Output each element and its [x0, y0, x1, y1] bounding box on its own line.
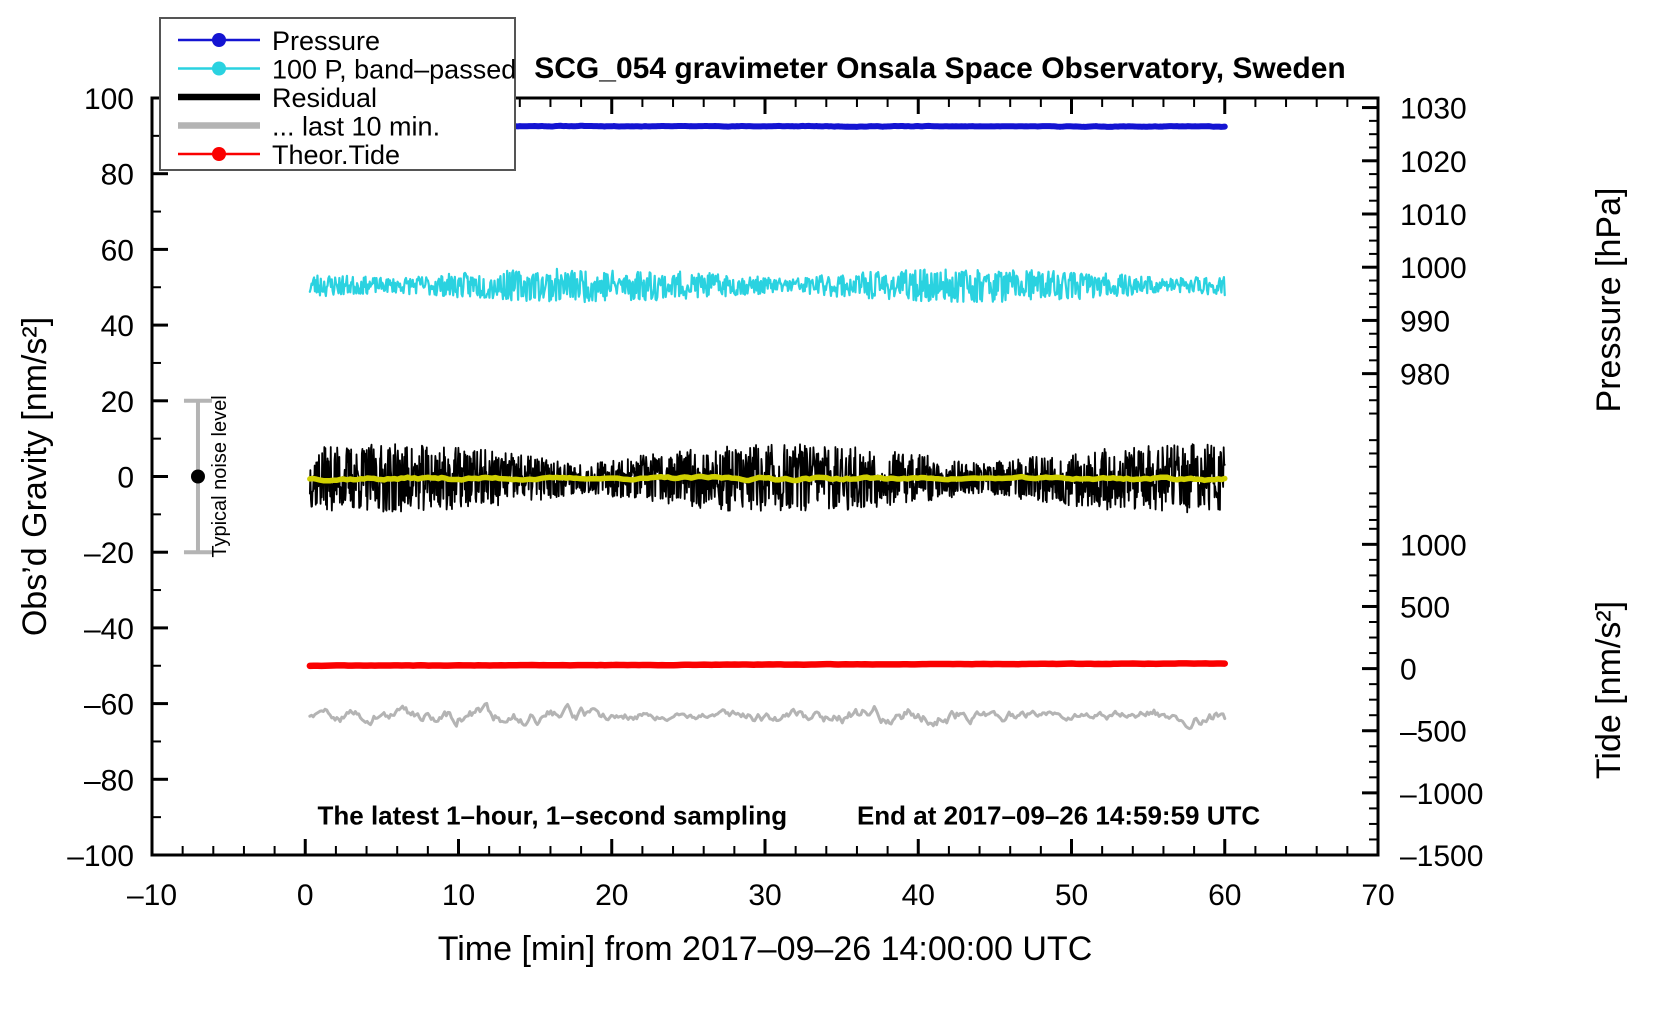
- tide-tick-label: –1500: [1400, 840, 1483, 873]
- y-tick-label: 20: [101, 386, 134, 419]
- y-tick-label: –40: [84, 613, 134, 646]
- legend-swatch-marker: [212, 62, 226, 76]
- legend-item-label: Theor.Tide: [272, 140, 400, 170]
- y-axis-title-tide: Tide [nm/s²]: [1590, 601, 1628, 779]
- x-tick-label: 70: [1361, 879, 1394, 912]
- typical-noise-level-annotation: Typical noise level: [184, 395, 231, 557]
- pressure-tick-label: 1020: [1400, 146, 1467, 179]
- end-time-note: End at 2017–09–26 14:59:59 UTC: [857, 801, 1260, 831]
- y-tick-label: 80: [101, 159, 134, 192]
- plot-canvas: –10010203040506070Time [min] from 2017–0…: [0, 0, 1660, 1020]
- x-tick-label: 10: [442, 879, 475, 912]
- y-axis-title-pressure: Pressure [hPa]: [1590, 188, 1628, 413]
- x-tick-label: 30: [748, 879, 781, 912]
- legend-item-label: Pressure: [272, 26, 380, 56]
- pressure-tick-label: 980: [1400, 359, 1450, 392]
- x-tick-label: 60: [1208, 879, 1241, 912]
- legend-swatch-marker: [212, 147, 226, 161]
- data-traces: [310, 126, 1225, 729]
- tide-tick-label: 1000: [1400, 529, 1467, 562]
- legend-item-label: Residual: [272, 83, 377, 113]
- trace-residual-smoothed: [310, 476, 1225, 480]
- x-tick-label: 40: [902, 879, 935, 912]
- pressure-tick-label: 1010: [1400, 199, 1467, 232]
- x-tick-label: 50: [1055, 879, 1088, 912]
- y-tick-label: 60: [101, 234, 134, 267]
- y-tick-label: –60: [84, 689, 134, 722]
- y-axis-title-left: Obs’d Gravity [nm/s²]: [16, 317, 54, 636]
- tide-tick-label: 0: [1400, 654, 1417, 687]
- plot-title: SCG_054 gravimeter Onsala Space Observat…: [534, 52, 1346, 85]
- legend-item-label: 100 P, band–passed: [272, 55, 516, 85]
- y-tick-label: 0: [117, 462, 134, 495]
- trace-last-10-min: [310, 703, 1225, 728]
- tide-tick-label: –1000: [1400, 778, 1483, 811]
- x-tick-label: 20: [595, 879, 628, 912]
- x-axis-title: Time [min] from 2017–09–26 14:00:00 UTC: [438, 930, 1093, 968]
- pressure-tick-label: 1030: [1400, 93, 1467, 126]
- y-tick-label: –100: [67, 840, 134, 873]
- noise-center-dot: [191, 470, 205, 484]
- trace-100-p-band-passed: [310, 269, 1225, 302]
- gravimeter-plot-figure: –10010203040506070Time [min] from 2017–0…: [0, 0, 1660, 1020]
- legend: Pressure100 P, band–passedResidual... la…: [160, 18, 516, 170]
- sampling-note: The latest 1–hour, 1–second sampling: [318, 801, 788, 831]
- tide-tick-label: –500: [1400, 716, 1467, 749]
- trace-pressure: [501, 126, 1224, 127]
- y-tick-label: 100: [84, 83, 134, 116]
- pressure-tick-label: 990: [1400, 305, 1450, 338]
- y-tick-label: 40: [101, 310, 134, 343]
- y-tick-label: –80: [84, 764, 134, 797]
- legend-item-label: ... last 10 min.: [272, 112, 440, 142]
- trace-theor-tide: [310, 663, 1225, 665]
- x-tick-label: –10: [127, 879, 177, 912]
- tide-tick-label: 500: [1400, 591, 1450, 624]
- noise-level-label: Typical noise level: [209, 395, 231, 557]
- pressure-tick-label: 1000: [1400, 252, 1467, 285]
- y-axis-right-tide: –1500–1000–50005001000: [1362, 529, 1483, 873]
- legend-swatch-marker: [212, 33, 226, 47]
- x-tick-label: 0: [297, 879, 314, 912]
- y-tick-label: –20: [84, 537, 134, 570]
